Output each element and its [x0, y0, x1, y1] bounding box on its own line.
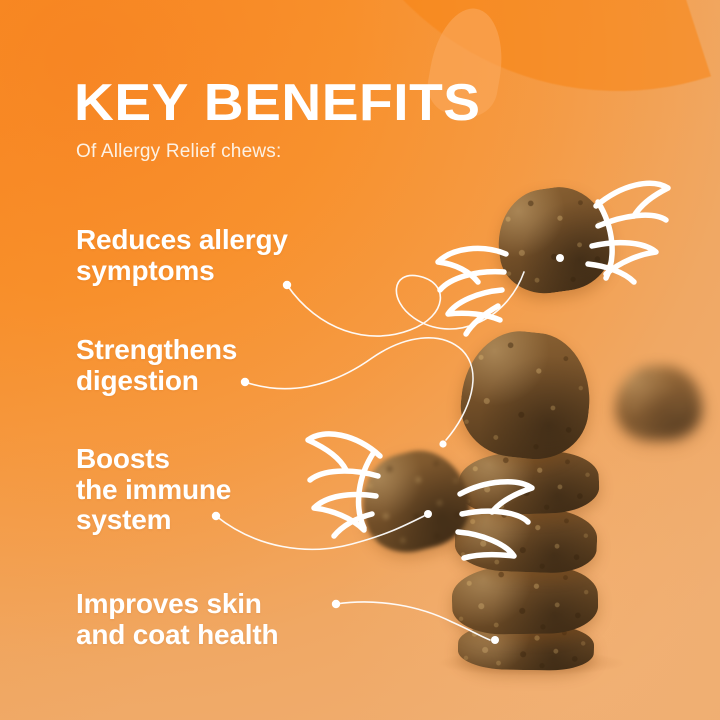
benefit-item-strengthens-digestion: Strengthens digestion: [76, 335, 237, 396]
background-chew-blur: [616, 366, 702, 440]
benefit-item-boosts-immune-system: Boosts the immune system: [76, 444, 231, 536]
stack-chew-4: [451, 565, 598, 636]
benefit-item-reduces-allergy-symptoms: Reduces allergy symptoms: [76, 225, 288, 286]
page-title: KEY BENEFITS: [74, 78, 481, 129]
stack-chew-3: [454, 506, 598, 575]
benefit-item-improves-skin-coat: Improves skin and coat health: [76, 589, 278, 650]
key-benefits-banner: KEY BENEFITS Of Allergy Relief chews: Re…: [0, 0, 720, 720]
page-subtitle: Of Allergy Relief chews:: [76, 141, 281, 163]
stack-chew-2: [458, 450, 600, 517]
